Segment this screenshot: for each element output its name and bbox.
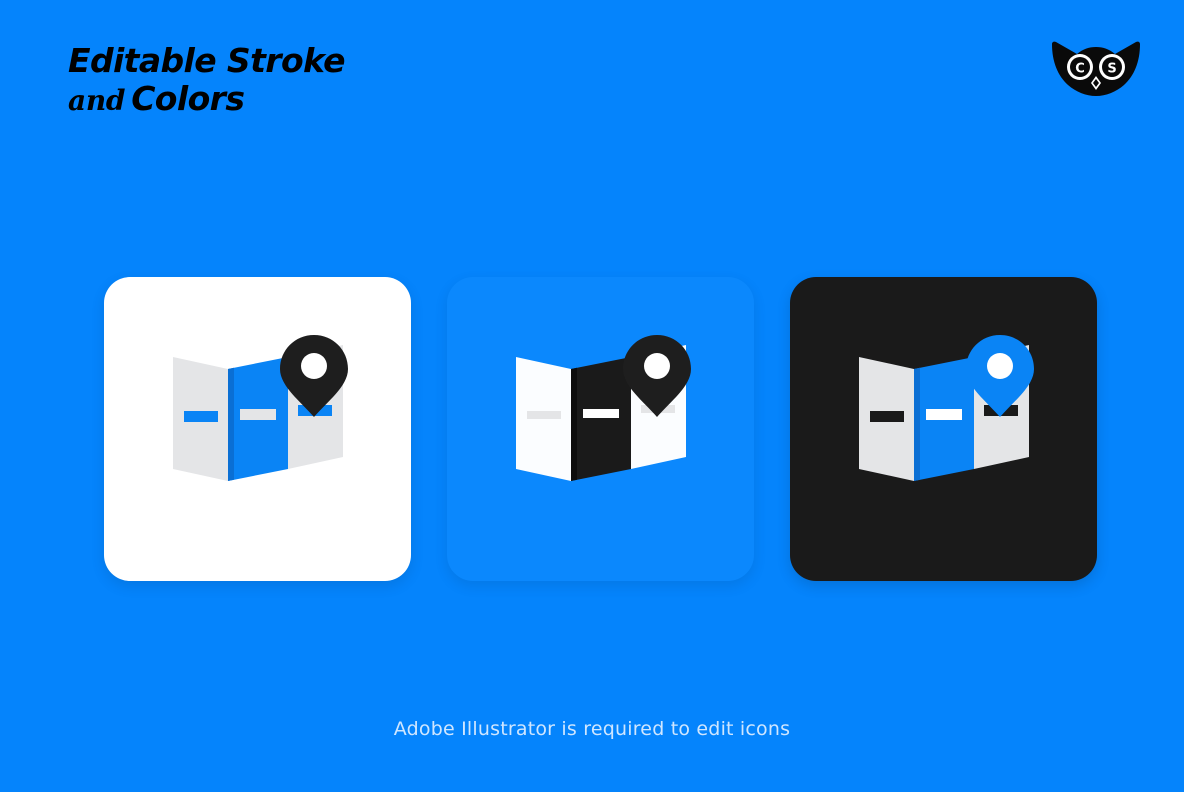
map-fold-left (914, 368, 920, 481)
map-dash-center (926, 409, 962, 420)
page-title-line-2: andColors (68, 82, 345, 115)
map-dash-center (240, 409, 276, 420)
map-pin-dot (987, 353, 1013, 379)
page-title-line-1: Editable Stroke (68, 44, 345, 77)
map-dash-left (870, 411, 904, 422)
page-title-colors-word: Colors (131, 79, 244, 118)
owl-logo: C S (1050, 40, 1142, 96)
footer-note: Adobe Illustrator is required to edit ic… (394, 718, 790, 740)
page-title-and-word: and (68, 84, 125, 117)
page-title: Editable Stroke andColors (68, 44, 345, 115)
map-pin-dot (301, 353, 327, 379)
icon-card-blue[interactable] (447, 277, 754, 581)
map-location-icon-blue (501, 329, 701, 529)
map-location-icon-dark (844, 329, 1044, 529)
map-dash-left (527, 411, 561, 419)
map-pin-dot (644, 353, 670, 379)
icon-card-light[interactable] (104, 277, 411, 581)
map-location-icon-light (158, 329, 358, 529)
icon-card-dark[interactable] (790, 277, 1097, 581)
map-panel-center (571, 357, 631, 481)
owl-left-eye-letter: C (1075, 62, 1085, 77)
map-dash-center (583, 409, 619, 418)
map-dash-left (184, 411, 218, 422)
map-fold-left (228, 368, 234, 481)
map-fold-left (571, 368, 577, 481)
owl-right-eye-letter: S (1107, 62, 1116, 77)
header: Editable Stroke andColors C S (0, 0, 1184, 140)
icon-card-row (0, 277, 1184, 581)
footer: Adobe Illustrator is required to edit ic… (0, 718, 1184, 740)
